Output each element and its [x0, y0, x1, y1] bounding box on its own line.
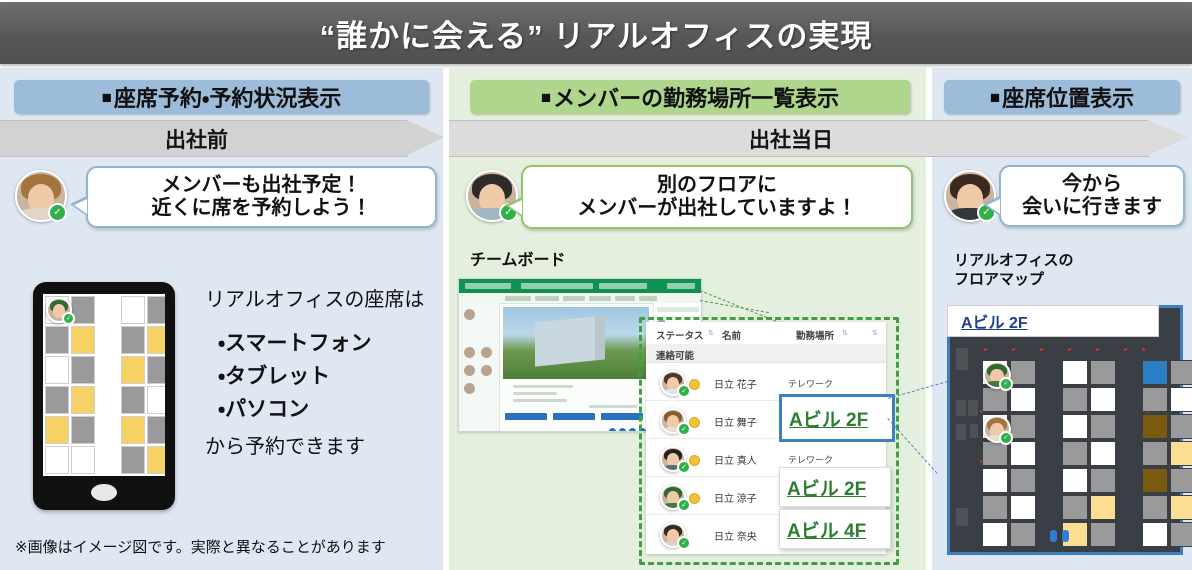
device-bullet-tablet: ・タブレット [218, 360, 330, 390]
section-header-label: メンバーの勤務場所一覧表示 [553, 81, 839, 113]
floor-map-title: Aビル 2F [948, 309, 1028, 333]
floor-seat[interactable] [1062, 360, 1088, 385]
floor-map-header[interactable]: Aビル 2F [947, 305, 1159, 337]
section-header-seat-reservation: ■ 座席予約・予約状況表示 [14, 80, 429, 114]
sort-icon[interactable]: ⇅ [708, 329, 714, 337]
floor-seat-reserved[interactable] [1142, 414, 1168, 439]
floor-seat[interactable] [1062, 414, 1088, 439]
member-name: 日立 奈央 [714, 528, 757, 543]
speech-tail-icon [983, 196, 1000, 216]
floor-map-caption-line: フロアマップ [954, 271, 1074, 290]
seat-cell[interactable] [121, 326, 145, 354]
floor-seat[interactable] [1170, 387, 1192, 412]
team-board-label: チームボード [470, 246, 566, 270]
floor-seat[interactable] [1062, 387, 1088, 412]
speech-bubble-right: 今から 会いに行きます [999, 165, 1185, 227]
seat-cell[interactable] [45, 446, 69, 474]
slide-title-bar: “誰かに会える” リアルオフィスの実現 [0, 2, 1192, 64]
floor-seat[interactable] [1090, 387, 1116, 412]
floor-seat[interactable] [1010, 441, 1036, 466]
floor-seat[interactable] [1090, 522, 1116, 547]
check-glyph: ✓ [53, 208, 61, 218]
floor-seat[interactable] [1142, 441, 1168, 466]
check-glyph: ✓ [66, 316, 71, 322]
office-building-photo [503, 307, 649, 379]
floor-seat[interactable] [1170, 522, 1192, 547]
floor-seat[interactable] [1170, 468, 1192, 493]
section-header-label: 座席予約・予約状況表示 [114, 81, 341, 113]
aisle-gap [1118, 522, 1140, 547]
floor-seat[interactable] [1090, 414, 1116, 439]
aisle-gap [1118, 414, 1140, 439]
floor-seat[interactable] [1142, 522, 1168, 547]
phase-band-before: 出社前 [0, 120, 408, 157]
speech-line: メンバーも出社予定！ [162, 174, 362, 197]
speech-tail-icon [505, 197, 522, 217]
floor-seat[interactable] [1062, 468, 1088, 493]
aisle-gap [1118, 468, 1140, 493]
seat-cell[interactable] [147, 446, 165, 474]
aisle-gap [1118, 387, 1140, 412]
aisle-gap [1118, 441, 1140, 466]
location-link-highlighted[interactable]: Aビル 2F [779, 394, 895, 442]
floor-seat[interactable] [1142, 495, 1168, 520]
column-header-location[interactable]: 勤務場所 [796, 328, 834, 342]
building-shape [535, 315, 605, 366]
left-closing-text: から予約できます [205, 430, 365, 459]
seat-cell[interactable] [71, 326, 95, 354]
floor-seat[interactable] [1010, 495, 1036, 520]
app-action-buttons[interactable] [503, 413, 649, 421]
speech-line: 別のフロアに [657, 174, 777, 197]
status-online-check-icon: ✓ [999, 431, 1013, 445]
status-online-check-icon: ✓ [48, 203, 67, 222]
aisle-gap [1118, 360, 1140, 385]
floor-seat[interactable] [1170, 414, 1192, 439]
floor-seat-occupied[interactable] [1170, 441, 1192, 466]
table-header-row: ステータス ⇅ 名前 勤務場所 ⇅ ⇅ [646, 322, 886, 345]
square-bullet-icon: ■ [102, 89, 112, 106]
member-location: テレワーク [788, 453, 833, 466]
aisle-gap [1118, 495, 1140, 520]
square-bullet-icon: ■ [990, 89, 1000, 106]
floor-seat-reserved[interactable] [1142, 468, 1168, 493]
member-location: テレワーク [788, 377, 833, 390]
app-message-list [503, 383, 649, 409]
member-name: 日立 花子 [714, 376, 757, 391]
seat-cell[interactable] [71, 446, 95, 474]
phase-label-sameday: 出社当日 [749, 124, 833, 154]
aisle-gap [1038, 387, 1060, 412]
seat-cell[interactable] [121, 446, 145, 474]
presence-dot-icon [689, 417, 700, 428]
aisle-gap [97, 386, 119, 414]
section-header-seat-position: ■ 座席位置表示 [944, 80, 1180, 114]
member-name: 日立 舞子 [714, 414, 757, 429]
floor-seat[interactable] [1090, 468, 1116, 493]
status-online-check-icon: ✓ [62, 312, 75, 325]
speech-line: 近くに席を予約しよう！ [152, 197, 372, 220]
column-header-name[interactable]: 名前 [722, 328, 741, 342]
aisle-gap [1038, 441, 1060, 466]
aisle-gap [97, 356, 119, 384]
seat-cell[interactable] [147, 296, 165, 324]
seat-cell[interactable] [71, 416, 95, 444]
member-name: 日立 真人 [714, 452, 757, 467]
floor-seat-selected[interactable] [1142, 360, 1168, 385]
tablet-device-mock: ✓ [33, 282, 175, 510]
seat-cell[interactable] [45, 356, 69, 384]
map-marker-icon [1050, 530, 1057, 542]
floor-seat[interactable] [1010, 468, 1036, 493]
floor-seat[interactable] [1010, 360, 1036, 385]
floor-seat[interactable] [1010, 414, 1036, 439]
floor-seat[interactable] [1170, 360, 1192, 385]
seat-cell[interactable] [45, 386, 69, 414]
aisle-gap [1038, 468, 1060, 493]
floor-seat[interactable] [982, 522, 1008, 547]
app-left-sidebar [459, 303, 500, 431]
seat-cell[interactable] [121, 296, 145, 324]
app-header-bar [459, 279, 701, 293]
aisle-gap [97, 296, 119, 324]
slide-root: “誰かに会える” リアルオフィスの実現 ■ 座席予約・予約状況表示 ■ メンバー… [0, 0, 1192, 570]
floor-map-caption: リアルオフィスの フロアマップ [954, 252, 1074, 290]
member-name: 日立 涼子 [714, 490, 757, 505]
floor-seat-occupied[interactable] [1090, 495, 1116, 520]
speech-bubble-left: メンバーも出社予定！ 近くに席を予約しよう！ [86, 166, 437, 228]
aisle-gap [1038, 360, 1060, 385]
column-header-status[interactable]: ステータス [656, 328, 704, 342]
status-online-check-icon: ✓ [999, 377, 1013, 391]
speech-line: 今から [1062, 173, 1122, 196]
seat-cell[interactable] [71, 386, 95, 414]
seat-cell[interactable] [45, 326, 69, 354]
seat-cell[interactable] [147, 416, 165, 444]
aisle-gap [97, 446, 119, 474]
presence-dot-icon [689, 455, 700, 466]
speech-line: メンバーが出社していますよ！ [577, 197, 856, 220]
presence-dot-icon [689, 379, 700, 390]
floor-seat[interactable] [1062, 441, 1088, 466]
floor-seat[interactable] [1062, 495, 1088, 520]
seat-cell[interactable] [121, 386, 145, 414]
page-title: “誰かに会える” リアルオフィスの実現 [320, 11, 873, 56]
floor-map-seat-grid[interactable] [982, 360, 1192, 547]
aisle-gap [1038, 414, 1060, 439]
device-bullet-pc: ・パソコン [218, 393, 309, 423]
seat-cell[interactable] [121, 416, 145, 444]
location-link[interactable]: Aビル 4F [779, 509, 891, 549]
floor-seat-occupied[interactable] [1170, 495, 1192, 520]
seat-cell[interactable] [71, 356, 95, 384]
floor-seat[interactable] [1142, 387, 1168, 412]
phase-label-before: 出社前 [165, 124, 228, 154]
home-button-icon[interactable] [91, 484, 117, 501]
phase-band-sameday: 出社当日 [449, 120, 1149, 157]
floor-seat[interactable] [1090, 360, 1116, 385]
floor-seat[interactable] [1010, 387, 1036, 412]
section-header-member-location: ■ メンバーの勤務場所一覧表示 [470, 80, 910, 114]
square-bullet-icon: ■ [541, 89, 551, 106]
seat-cell[interactable] [147, 386, 165, 414]
speech-tail-icon [70, 196, 87, 216]
speech-bubble-center: 別のフロアに メンバーが出社していますよ！ [521, 165, 913, 229]
map-marker-icon [1062, 530, 1069, 542]
seat-cell[interactable] [121, 356, 145, 384]
aisle-gap [97, 326, 119, 354]
floor-seat[interactable] [1090, 441, 1116, 466]
presence-dot-icon [689, 493, 700, 504]
floor-map[interactable]: Aビル 2F [947, 305, 1183, 555]
status-online-check-icon: ✓ [677, 536, 691, 550]
location-link[interactable]: Aビル 2F [779, 467, 891, 507]
table-group-row-available: 連絡可能 [646, 344, 886, 363]
floor-map-caption-line: リアルオフィスの [954, 252, 1074, 271]
floor-seat[interactable] [982, 495, 1008, 520]
aisle-gap [97, 416, 119, 444]
section-header-label: 座席位置表示 [1002, 81, 1134, 113]
device-bullet-smartphone: ・スマートフォン [218, 327, 372, 357]
sort-icon[interactable]: ⇅ [872, 329, 878, 337]
speech-line: 会いに行きます [1022, 196, 1162, 219]
footnote-disclaimer: ※画像はイメージ図です。実際と異なることがあります [15, 536, 386, 557]
group-label: 連絡可能 [656, 348, 694, 362]
seat-cell[interactable] [45, 416, 69, 444]
floor-seat[interactable] [1010, 522, 1036, 547]
seat-cell[interactable] [147, 356, 165, 384]
aisle-gap [1038, 495, 1060, 520]
floor-seat[interactable] [982, 468, 1008, 493]
left-intro-text: リアルオフィスの座席は [205, 283, 424, 312]
sort-icon[interactable]: ⇅ [842, 329, 848, 337]
seat-cell[interactable] [147, 326, 165, 354]
